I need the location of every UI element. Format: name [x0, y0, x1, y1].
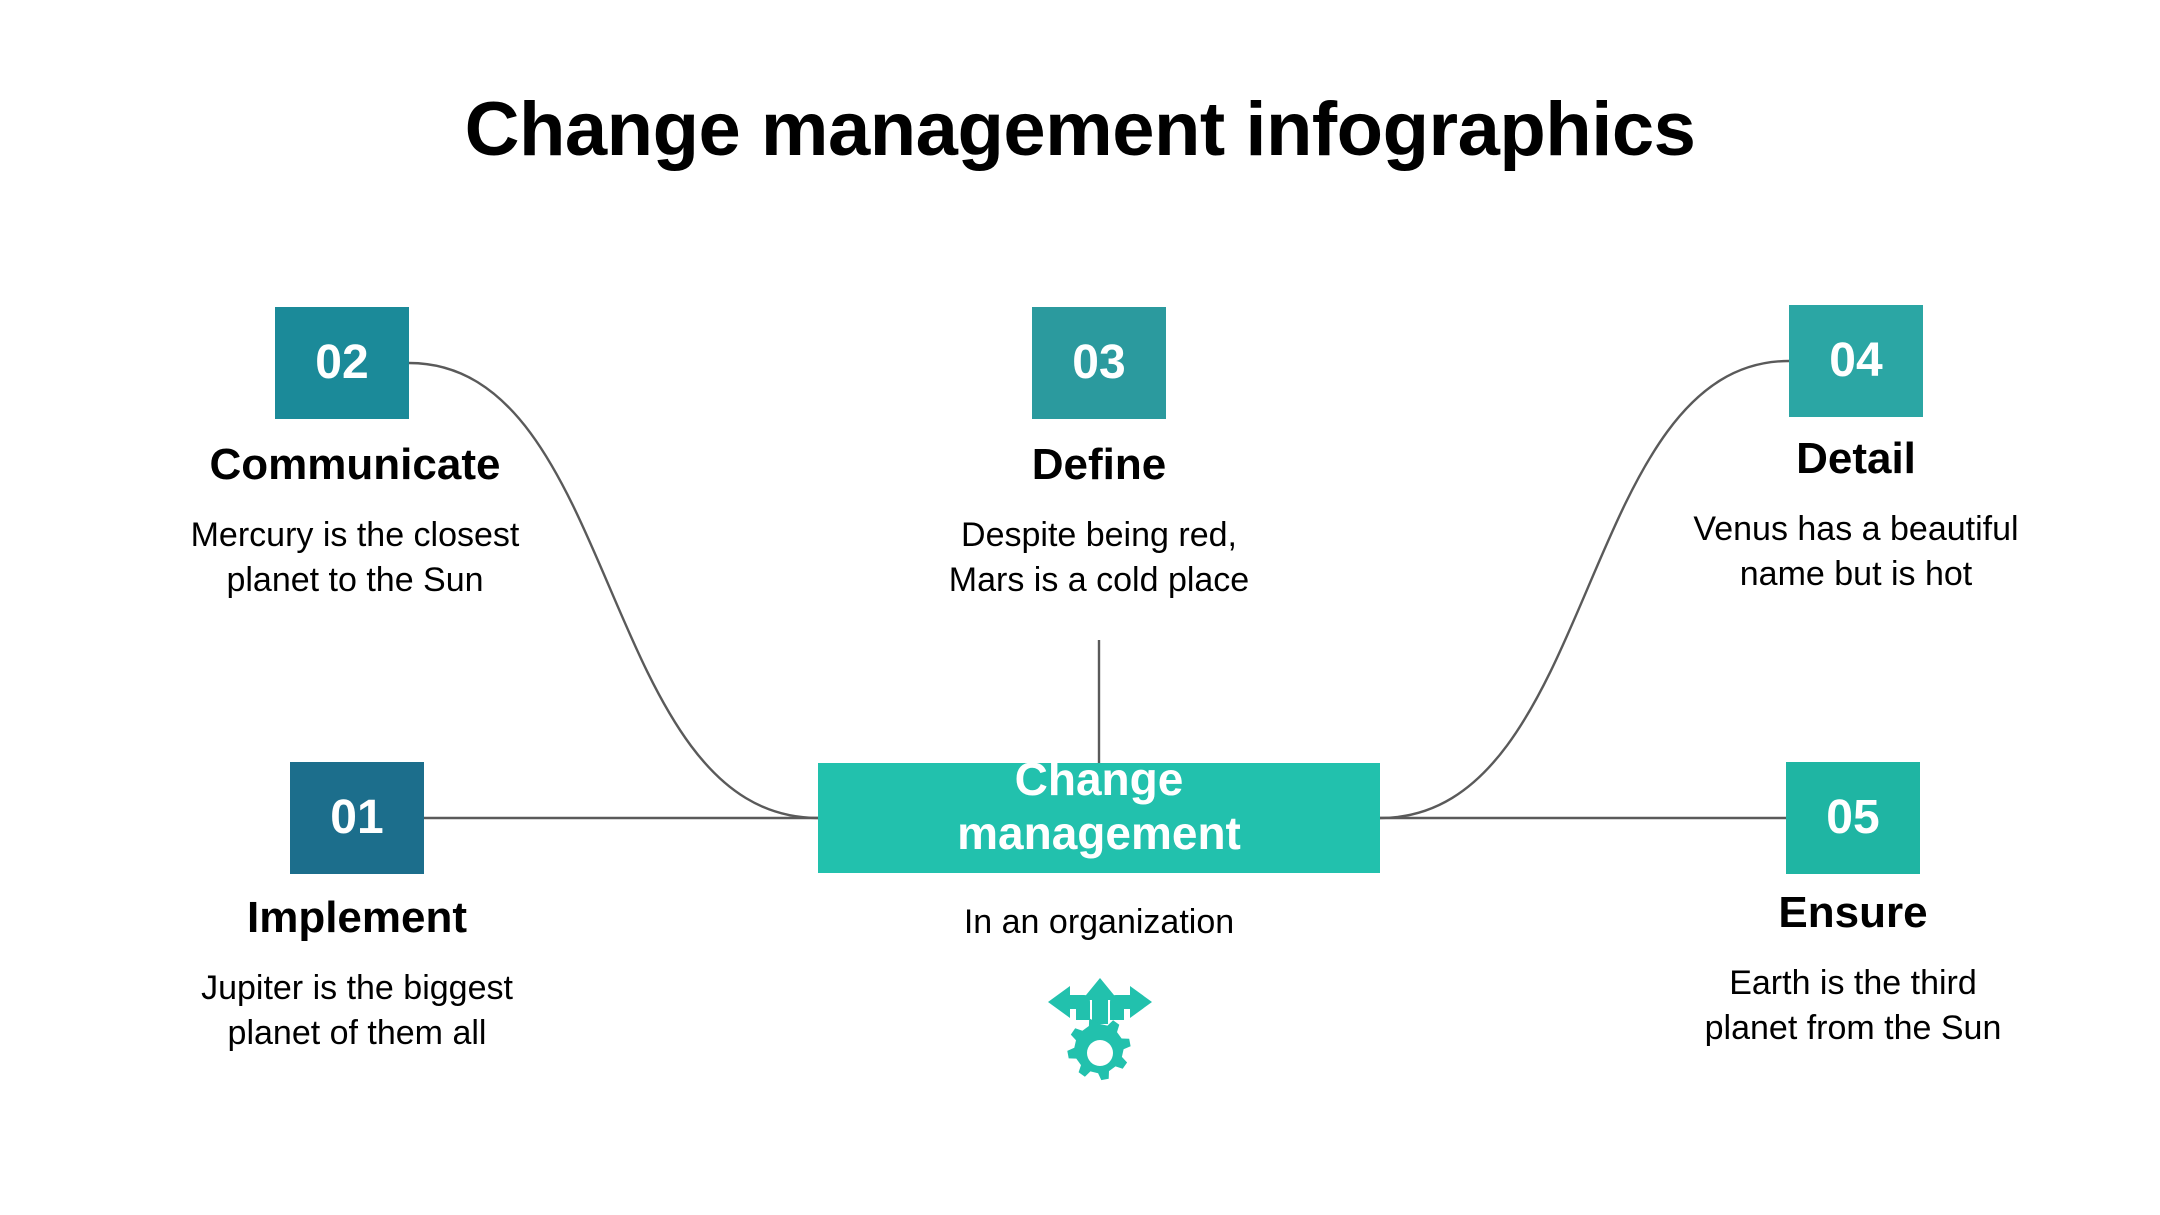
step-number-01: 01: [330, 794, 383, 842]
step-desc-05-line2: planet from the Sun: [1573, 1006, 2133, 1051]
step-desc-05-line1: Earth is the third: [1573, 961, 2133, 1006]
step-node-define: Define Despite being red, Mars is a cold…: [819, 440, 1379, 604]
step-desc-03-line1: Despite being red,: [819, 513, 1379, 558]
center-hub-box[interactable]: [818, 763, 1380, 873]
step-title-02: Communicate: [75, 440, 635, 489]
step-title-03: Define: [819, 440, 1379, 489]
step-desc-01: Jupiter is the biggest planet of them al…: [77, 966, 637, 1056]
step-desc-02-line2: planet to the Sun: [75, 558, 635, 603]
step-desc-01-line1: Jupiter is the biggest: [77, 966, 637, 1011]
step-badge-01[interactable]: 01: [290, 762, 424, 874]
step-number-03: 03: [1072, 339, 1125, 387]
step-badge-05[interactable]: 05: [1786, 762, 1920, 874]
step-desc-02-line1: Mercury is the closest: [75, 513, 635, 558]
infographic-slide: Change management infographics 02 Commun…: [0, 0, 2160, 1215]
gear-with-arrows-icon: [1040, 976, 1160, 1086]
step-number-05: 05: [1826, 794, 1879, 842]
step-number-04: 04: [1829, 337, 1882, 385]
step-desc-01-line2: planet of them all: [77, 1011, 637, 1056]
step-node-detail: Detail Venus has a beautiful name but is…: [1576, 434, 2136, 598]
step-desc-03: Despite being red, Mars is a cold place: [819, 513, 1379, 603]
step-badge-04[interactable]: 04: [1789, 305, 1923, 417]
step-badge-03[interactable]: 03: [1032, 307, 1166, 419]
step-title-05: Ensure: [1573, 888, 2133, 937]
step-desc-05: Earth is the third planet from the Sun: [1573, 961, 2133, 1051]
step-badge-02[interactable]: 02: [275, 307, 409, 419]
step-node-implement: Implement Jupiter is the biggest planet …: [77, 893, 637, 1057]
step-node-communicate: Communicate Mercury is the closest plane…: [75, 440, 635, 604]
step-number-02: 02: [315, 339, 368, 387]
page-title: Change management infographics: [0, 92, 2160, 168]
step-title-01: Implement: [77, 893, 637, 942]
center-hub-subtitle: In an organization: [818, 900, 1380, 944]
step-node-ensure: Ensure Earth is the third planet from th…: [1573, 888, 2133, 1052]
step-desc-04: Venus has a beautiful name but is hot: [1576, 507, 2136, 597]
step-desc-02: Mercury is the closest planet to the Sun: [75, 513, 635, 603]
step-desc-04-line2: name but is hot: [1576, 552, 2136, 597]
step-desc-03-line2: Mars is a cold place: [819, 558, 1379, 603]
step-title-04: Detail: [1576, 434, 2136, 483]
step-desc-04-line1: Venus has a beautiful: [1576, 507, 2136, 552]
